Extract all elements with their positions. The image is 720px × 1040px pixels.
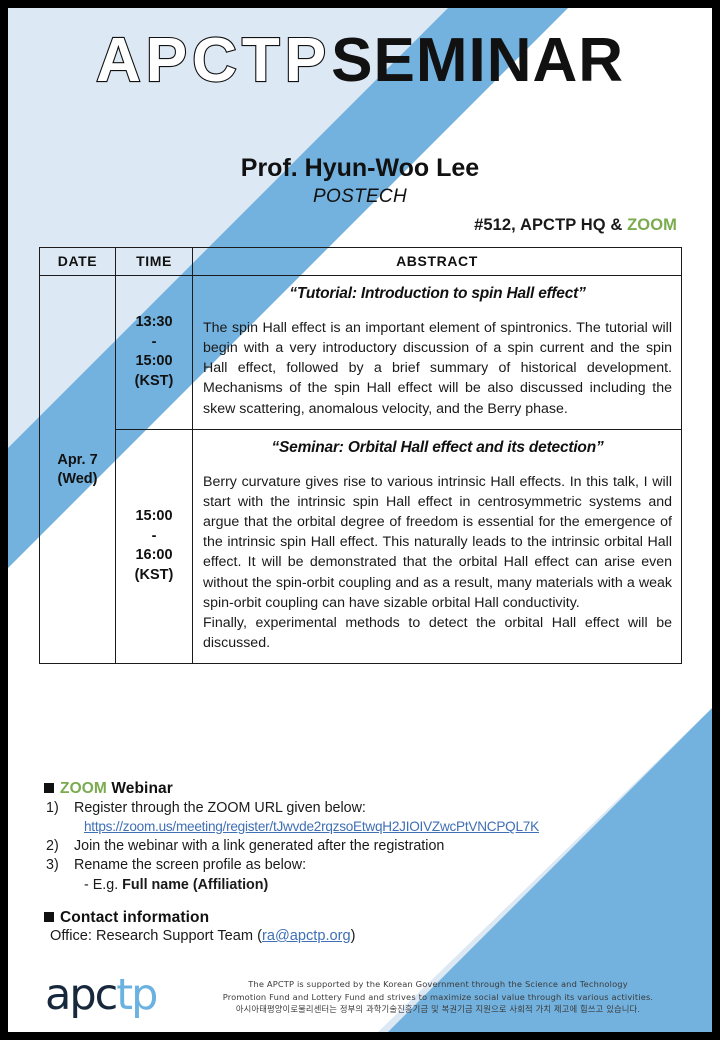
step-text-3: Rename the screen profile as below: [74,857,306,873]
date-day: Apr. 7 [40,451,115,470]
webinar-step-3: 3)Rename the screen profile as below: [44,856,684,875]
support-line-2: Promotion Fund and Lottery Fund and stri… [188,991,688,1004]
webinar-step-1: 1)Register through the ZOOM URL given be… [44,799,684,837]
abstract-paragraph: Finally, experimental methods to detect … [203,613,672,653]
cell-time-1: 13:30 - 15:00 (KST) [116,276,193,430]
support-statement: The APCTP is supported by the Korean Gov… [188,978,688,1016]
bullet-square-icon [44,912,54,922]
cell-abstract-1: “Tutorial: Introduction to spin Hall eff… [193,276,682,430]
contact-section: Contact information Office: Research Sup… [44,909,684,944]
speaker-affiliation: POSTECH [8,185,712,210]
time-dash-2: - [116,527,192,547]
contact-office-prefix: Office: Research Support Team ( [50,928,262,944]
example-prefix: - E.g. [84,877,122,893]
venue-line: #512, APCTP HQ & ZOOM [474,216,677,235]
step-text-1: Register through the ZOOM URL given belo… [74,800,366,816]
step-text-2: Join the webinar with a link generated a… [74,838,444,854]
contact-heading-text: Contact information [60,909,209,926]
webinar-heading-rest: Webinar [107,780,173,797]
time-dash-1: - [116,333,192,353]
venue-room: #512, APCTP HQ & [474,216,627,234]
speaker-block: Prof. Hyun-Woo Lee POSTECH [8,154,712,209]
column-header-date: DATE [40,248,116,276]
speaker-name: Prof. Hyun-Woo Lee [8,154,712,184]
logo-apc: apc [45,970,116,1020]
poster-page: APCTPSEMINAR Prof. Hyun-Woo Lee POSTECH … [8,8,712,1032]
contact-heading: Contact information [44,909,684,927]
webinar-heading: ZOOM Webinar [44,780,684,798]
title-apctp: APCTP [96,30,331,92]
webinar-steps: 1)Register through the ZOOM URL given be… [44,799,684,875]
date-weekday: (Wed) [40,470,115,489]
column-header-abstract: ABSTRACT [193,248,682,276]
example-bold: Full name (Affiliation) [122,877,268,893]
title-seminar: SEMINAR [331,30,624,92]
venue-zoom: ZOOM [627,216,677,234]
table-row: Apr. 7 (Wed) 13:30 - 15:00 (KST) “Tutori… [40,276,682,430]
zoom-registration-link[interactable]: https://zoom.us/meeting/register/tJwvde2… [84,818,539,836]
time-zone-2: (KST) [116,566,192,586]
apctp-logo: apctp [45,974,156,1017]
time-end-1: 15:00 [116,352,192,372]
webinar-section: ZOOM Webinar 1)Register through the ZOOM… [44,780,684,895]
cell-date: Apr. 7 (Wed) [40,276,116,664]
footer: apctp The APCTP is supported by the Kore… [8,966,712,1032]
table-header-row: DATE TIME ABSTRACT [40,248,682,276]
column-header-time: TIME [116,248,193,276]
abstract-title-2: “Seminar: Orbital Hall effect and its de… [203,439,672,457]
bullet-square-icon [44,783,54,793]
schedule-table: DATE TIME ABSTRACT Apr. 7 (Wed) 13:30 - … [39,247,682,664]
webinar-heading-zoom: ZOOM [60,780,107,797]
step-number-2: 2) [46,837,59,856]
step-number-1: 1) [46,799,59,818]
example-name-line: - E.g. Full name (Affiliation) [44,875,684,895]
abstract-paragraph: Berry curvature gives rise to various in… [203,472,672,613]
abstract-body-2: Berry curvature gives rise to various in… [203,472,672,653]
step-number-3: 3) [46,856,59,875]
time-start-1: 13:30 [116,313,192,333]
contact-office-suffix: ) [351,928,356,944]
abstract-body-1: The spin Hall effect is an important ele… [203,318,672,419]
support-line-3: 아시아태평양이로물리센터는 정부의 과학기술진흥기금 및 복권기금 지원으로 사… [188,1003,688,1016]
table-row: 15:00 - 16:00 (KST) “Seminar: Orbital Ha… [40,429,682,663]
cell-abstract-2: “Seminar: Orbital Hall effect and its de… [193,429,682,663]
contact-email-link[interactable]: ra@apctp.org [262,928,351,944]
time-start-2: 15:00 [116,507,192,527]
page-title: APCTPSEMINAR [8,30,712,92]
support-line-1: The APCTP is supported by the Korean Gov… [188,978,688,991]
logo-tp: tp [116,970,156,1020]
seminar-poster: APCTPSEMINAR Prof. Hyun-Woo Lee POSTECH … [0,0,720,1040]
time-zone-1: (KST) [116,372,192,392]
webinar-step-2: 2)Join the webinar with a link generated… [44,837,684,856]
time-end-2: 16:00 [116,546,192,566]
abstract-title-1: “Tutorial: Introduction to spin Hall eff… [203,285,672,303]
abstract-paragraph: The spin Hall effect is an important ele… [203,318,672,419]
contact-office-line: Office: Research Support Team (ra@apctp.… [44,928,684,944]
cell-time-2: 15:00 - 16:00 (KST) [116,429,193,663]
